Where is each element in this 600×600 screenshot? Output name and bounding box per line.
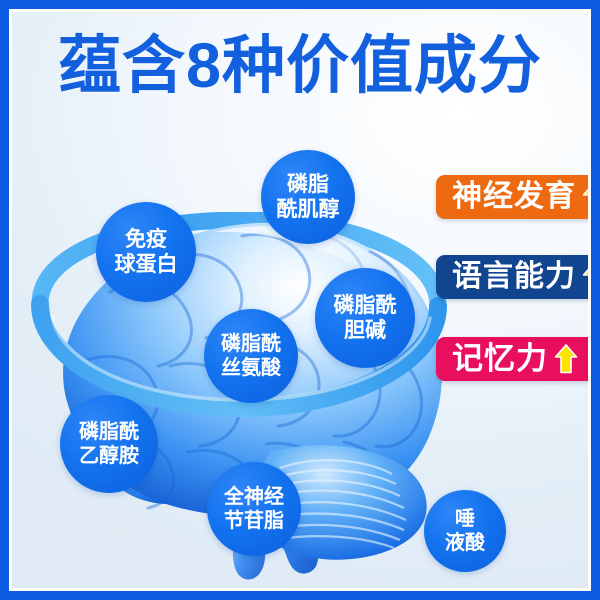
ingredient-line-1: 磷脂酰 — [334, 293, 397, 318]
ingredient-line-1: 全神经 — [224, 485, 284, 509]
page-title: 蕴含8种价值成分 — [12, 28, 588, 104]
ingredient-line-1: 磷脂酰 — [221, 332, 281, 356]
ingredient-bubble-phosphatidylserine[interactable]: 磷脂酰 丝氨酸 — [204, 309, 298, 403]
arrow-up-icon — [582, 182, 588, 212]
ingredient-line-2: 丝氨酸 — [221, 356, 281, 380]
ingredient-line-1: 唾 — [445, 507, 485, 531]
ingredient-line-1: 免疫 — [115, 227, 178, 252]
ingredient-line-2: 胆碱 — [334, 318, 397, 343]
benefit-label: 记忆力 — [452, 343, 548, 375]
ingredient-bubble-immunoglobulin[interactable]: 免疫 球蛋白 — [96, 202, 196, 302]
ingredient-line-1: 磷脂 — [277, 172, 340, 197]
benefit-label: 语言能力 — [452, 261, 576, 293]
promo-poster: 蕴含8种价值成分 — [0, 0, 600, 600]
ingredient-line-2: 球蛋白 — [115, 252, 178, 277]
ingredient-bubble-phosphatidylcholine[interactable]: 磷脂酰 胆碱 — [315, 268, 415, 368]
benefit-badge-memory[interactable]: 记忆力 — [436, 337, 588, 381]
ingredient-bubble-sialic-acid[interactable]: 唾 液酸 — [424, 490, 506, 572]
ingredient-line-2: 乙醇胺 — [79, 444, 139, 468]
ingredient-line-1: 磷脂酰 — [79, 420, 139, 444]
ingredient-line-2: 节苷脂 — [224, 509, 284, 533]
ingredient-bubble-ganglioside[interactable]: 全神经 节苷脂 — [207, 462, 301, 556]
benefit-badge-language-ability[interactable]: 语言能力 — [436, 255, 588, 299]
ingredient-line-2: 液酸 — [445, 531, 485, 555]
benefit-label: 神经发育 — [452, 181, 576, 213]
benefit-badge-neural-development[interactable]: 神经发育 — [436, 175, 588, 219]
arrow-up-icon — [554, 344, 578, 374]
ingredient-bubble-phosphatidylinositol[interactable]: 磷脂 酰肌醇 — [261, 150, 355, 244]
arrow-up-icon — [582, 262, 588, 292]
poster-canvas: 蕴含8种价值成分 — [12, 12, 588, 588]
ingredient-bubble-phosphatidylethanolamine[interactable]: 磷脂酰 乙醇胺 — [60, 395, 158, 493]
ingredient-line-2: 酰肌醇 — [277, 197, 340, 222]
